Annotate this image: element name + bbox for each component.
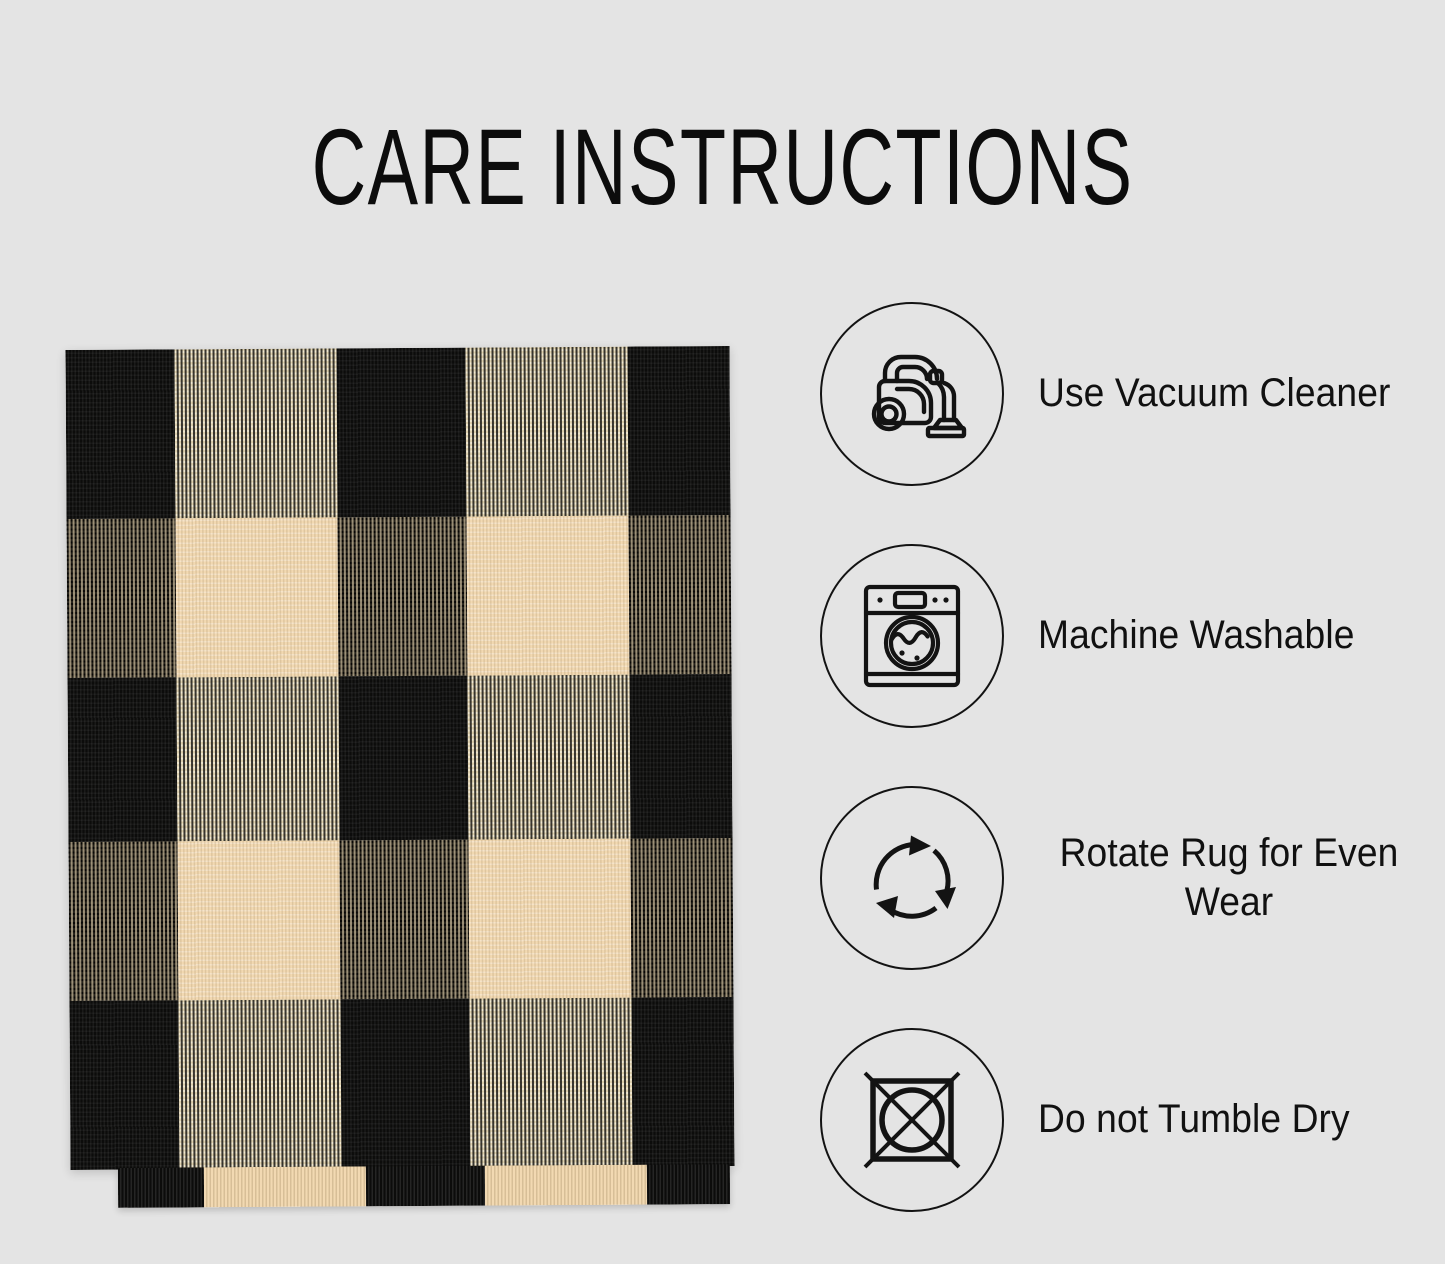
- rug-body: [66, 346, 735, 1170]
- rug-cell: [339, 840, 469, 1000]
- rug-cell: [174, 348, 337, 518]
- care-instruction-item-machine-wash: Machine Washable: [820, 538, 1420, 733]
- rug-cell: [177, 840, 340, 1000]
- rug-cell: [178, 999, 341, 1169]
- care-instruction-label: Rotate Rug for Even Wear: [1051, 829, 1406, 927]
- page-title: CARE INSTRUCTIONS: [217, 110, 1229, 223]
- rug-cell: [631, 838, 734, 998]
- rug-cell: [467, 516, 630, 676]
- rug-cell: [338, 676, 468, 841]
- rug-cell: [628, 346, 731, 516]
- care-instruction-label: Do not Tumble Dry: [1038, 1095, 1393, 1144]
- rug-cell: [175, 517, 338, 677]
- rug-fold-cell: [118, 1167, 204, 1208]
- rug-fold-cell: [366, 1166, 486, 1207]
- rug-cell: [468, 675, 631, 840]
- rug-cell: [176, 676, 339, 841]
- rug-cell: [470, 998, 633, 1168]
- rug-cell: [629, 515, 732, 675]
- care-instruction-label: Use Vacuum Cleaner: [1038, 369, 1393, 418]
- rug-cell: [466, 347, 629, 517]
- rotate-arrows-icon: [820, 786, 1004, 970]
- washing-machine-icon: [820, 544, 1004, 728]
- rug-cell: [69, 841, 179, 1001]
- care-instruction-label: Machine Washable: [1038, 611, 1393, 660]
- rug-product-image: [60, 340, 750, 1210]
- rug-fold-cell: [204, 1166, 366, 1207]
- rug-cell: [340, 999, 470, 1169]
- rug-cell: [632, 997, 735, 1167]
- rug-cell: [469, 839, 632, 999]
- rug-cell: [336, 348, 466, 518]
- rug-cell: [69, 1000, 179, 1170]
- care-instruction-list: Use Vacuum Cleaner: [820, 296, 1420, 1216]
- rug-cell: [66, 349, 176, 519]
- care-instruction-item-no-tumble-dry: Do not Tumble Dry: [820, 1022, 1420, 1217]
- do-not-tumble-dry-icon: [820, 1028, 1004, 1212]
- vacuum-cleaner-icon: [820, 302, 1004, 486]
- rug-fold-cell: [485, 1165, 647, 1206]
- care-instruction-item-vacuum: Use Vacuum Cleaner: [820, 296, 1420, 491]
- rug-fold-cell: [647, 1164, 730, 1205]
- care-instruction-item-rotate: Rotate Rug for Even Wear: [820, 780, 1420, 975]
- care-instructions-page: CARE INSTRUCTIONS: [0, 0, 1445, 1264]
- rug-cell: [337, 516, 467, 676]
- rug-folded-edge: [118, 1164, 730, 1208]
- rug-cell: [68, 677, 178, 842]
- rug-cell: [67, 518, 177, 678]
- rug-plaid-grid: [66, 346, 735, 1170]
- rug-cell: [630, 674, 733, 839]
